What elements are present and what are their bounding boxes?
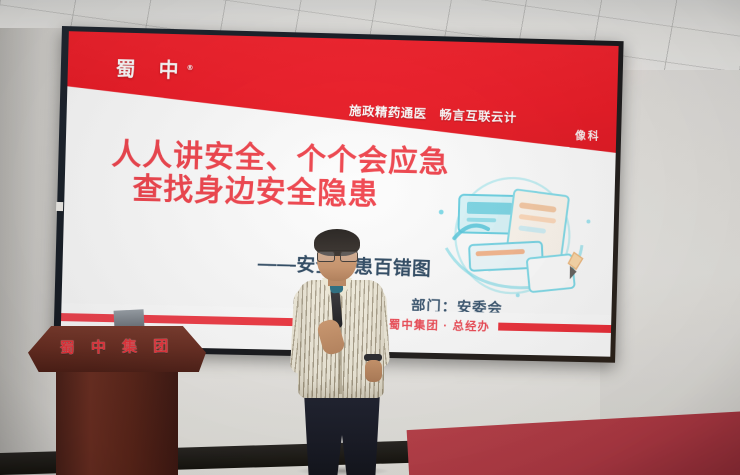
glasses-icon: [317, 250, 358, 259]
podium: 蜀 中 集 团: [28, 326, 206, 475]
registered-trademark-icon: ®: [186, 64, 193, 72]
presenter-right-hand: [365, 360, 382, 382]
podium-label: 蜀 中 集 团: [28, 334, 206, 358]
slide-header-band: [66, 31, 619, 153]
podium-microphone-icon: [114, 309, 145, 329]
presenter-trousers: [304, 392, 380, 475]
slogan-right-text: 畅言互联云计: [439, 108, 517, 125]
screen-frame-button[interactable]: [56, 202, 63, 211]
slide-title-block: 人人讲安全、个个会应急 查找身边安全隐患: [110, 138, 547, 215]
presentation-photo-scene: 蜀 中® 施政精药通医畅言互联云计 像科: [0, 0, 740, 475]
presenter: [290, 228, 400, 475]
brand-logo: 蜀 中®: [115, 52, 193, 83]
podium-body: [56, 368, 178, 475]
secondary-logo: 像科: [575, 127, 601, 143]
slogan-left-text: 施政精药通医: [349, 104, 427, 121]
brand-logo-text: 蜀 中: [115, 56, 186, 82]
